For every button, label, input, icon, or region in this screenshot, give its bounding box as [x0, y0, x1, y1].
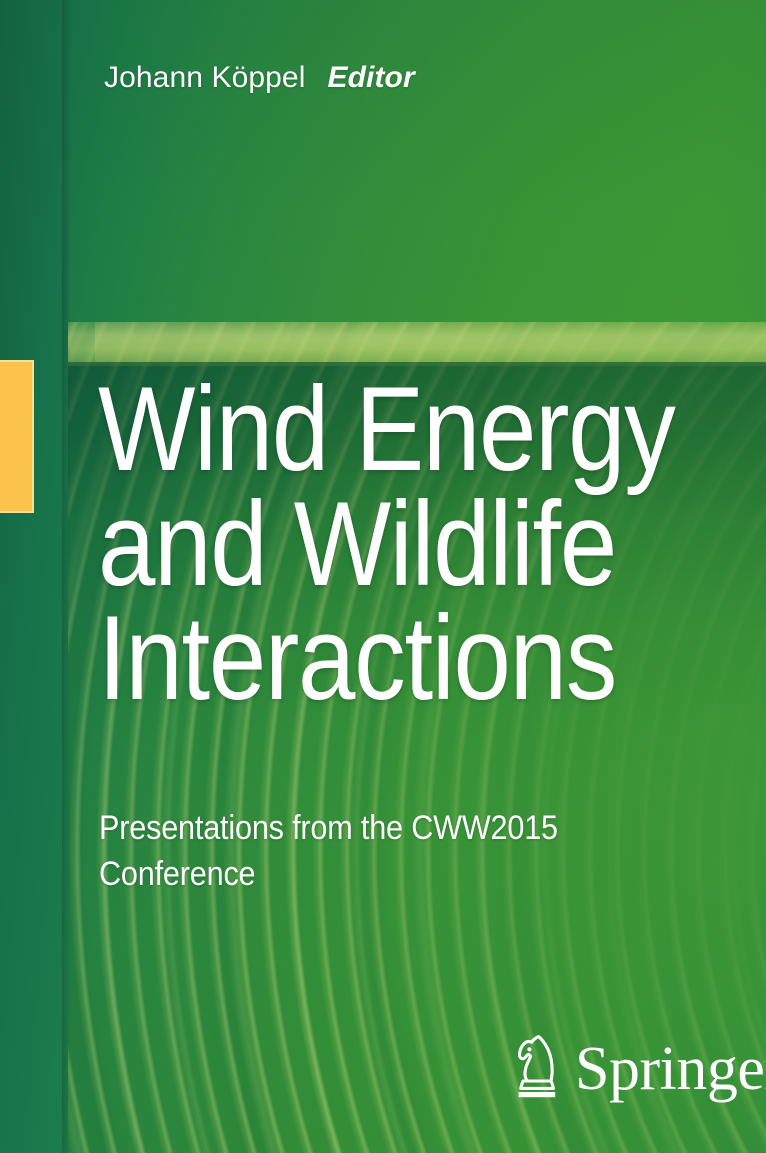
publisher-name: Springer — [575, 1038, 766, 1100]
publisher-logo: Springer — [508, 1032, 766, 1110]
cover-spine-band — [0, 0, 68, 1153]
book-title-line-2: and Wildlife — [98, 487, 648, 602]
book-subtitle-line-2: Conference — [99, 852, 657, 898]
series-accent-block — [0, 360, 34, 513]
springer-knight-icon — [508, 1032, 566, 1104]
editor-name: Johann Köppel — [104, 61, 305, 94]
book-title: Wind Energy and Wildlife Interactions — [98, 372, 648, 716]
editor-line: Johann KöppelEditor — [104, 61, 415, 95]
book-cover: Johann KöppelEditor Wind Energy and Wild… — [0, 0, 766, 1153]
cover-header-band — [0, 0, 766, 322]
book-subtitle-line-1: Presentations from the CWW2015 — [99, 806, 657, 852]
book-title-line-3: Interactions — [98, 601, 648, 716]
editor-role: Editor — [327, 61, 414, 94]
book-subtitle: Presentations from the CWW2015 Conferenc… — [99, 806, 657, 897]
artwork-top-highlight — [68, 322, 766, 366]
cover-spine-shadow — [62, 0, 71, 1153]
book-title-line-1: Wind Energy — [98, 372, 648, 487]
